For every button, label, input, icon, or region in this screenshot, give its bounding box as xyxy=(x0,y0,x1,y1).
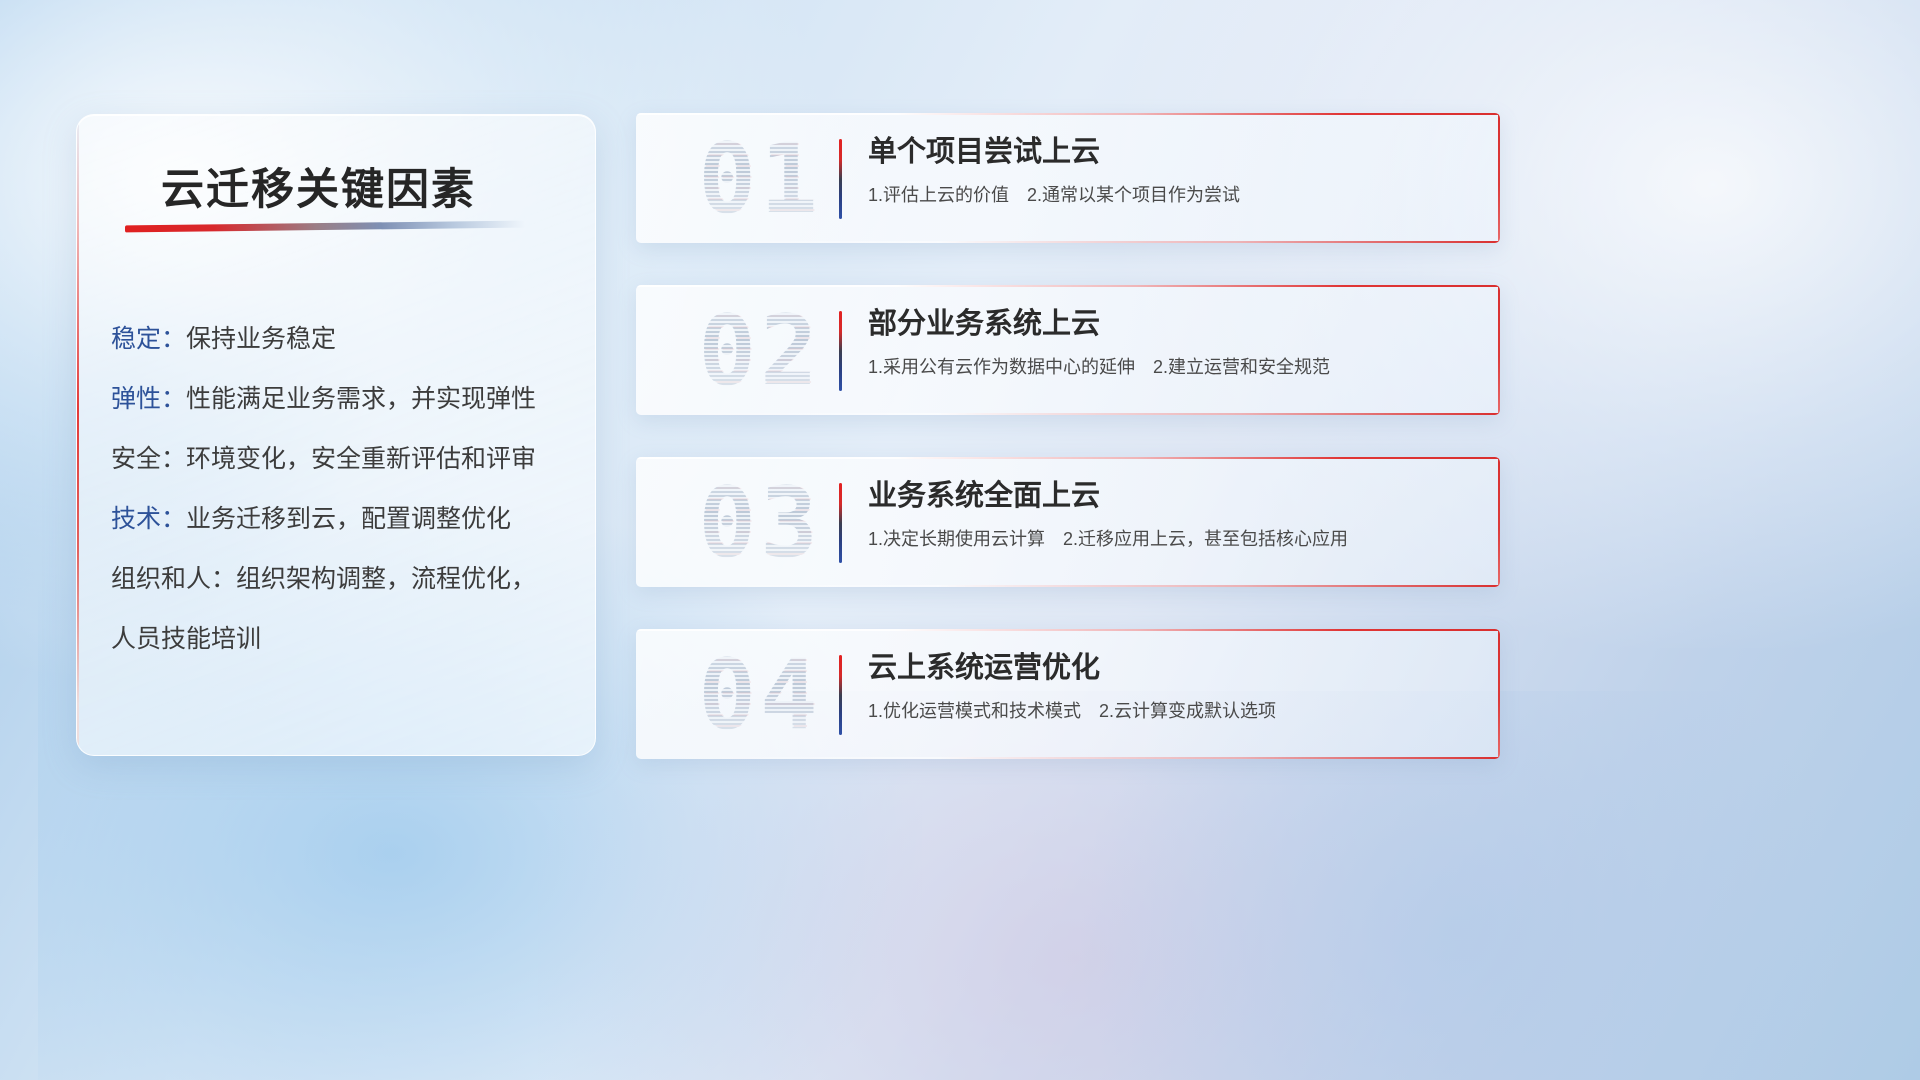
key-factors-panel: 云迁移关键因素 稳定：保持业务稳定 弹性：性能满足业务需求，并实现弹性 安全：环… xyxy=(76,114,596,756)
stage-number-glitch-overlay: 03 xyxy=(699,467,823,579)
stage-divider-bar xyxy=(839,311,842,391)
slide-stage: 云迁移关键因素 稳定：保持业务稳定 弹性：性能满足业务需求，并实现弹性 安全：环… xyxy=(0,0,1920,1080)
factor-label: 弹性： xyxy=(111,385,186,413)
stage-title: 业务系统全面上云 xyxy=(868,475,1476,517)
stage-text-block: 单个项目尝试上云 1.评估上云的价值 2.通常以某个项目作为尝试 xyxy=(868,131,1476,209)
stage-number-glyph: 04 xyxy=(698,639,822,751)
stage-number-glyph: 03 xyxy=(698,467,822,579)
stage-text-block: 业务系统全面上云 1.决定长期使用云计算 2.迁移应用上云，甚至包括核心应用 xyxy=(868,475,1476,553)
stage-subtitle: 1.评估上云的价值 2.通常以某个项目作为尝试 xyxy=(868,181,1476,209)
factor-value-continuation: 人员技能培训 xyxy=(111,609,571,669)
stage-divider-bar xyxy=(839,139,842,219)
card-bottom-accent xyxy=(636,757,1500,759)
card-bottom-accent xyxy=(636,413,1500,415)
factor-label: 组织和人： xyxy=(111,565,236,593)
list-item: 弹性：性能满足业务需求，并实现弹性 xyxy=(111,369,571,429)
page-title: 云迁移关键因素 xyxy=(161,155,476,217)
list-item: 组织和人：组织架构调整，流程优化， xyxy=(111,549,571,609)
stage-text-block: 云上系统运营优化 1.优化运营模式和技术模式 2.云计算变成默认选项 xyxy=(868,647,1476,725)
stage-divider-bar xyxy=(839,483,842,563)
stage-number: 03 03 xyxy=(660,463,860,583)
factor-value: 业务迁移到云，配置调整优化 xyxy=(186,505,511,533)
stage-title: 单个项目尝试上云 xyxy=(868,131,1476,173)
stage-number-glyph: 02 xyxy=(698,295,822,407)
factor-label: 安全： xyxy=(111,445,186,473)
title-underline-accent xyxy=(125,221,525,233)
stage-subtitle: 1.优化运营模式和技术模式 2.云计算变成默认选项 xyxy=(868,697,1476,725)
key-factors-list: 稳定：保持业务稳定 弹性：性能满足业务需求，并实现弹性 安全：环境变化，安全重新… xyxy=(111,309,571,669)
list-item: 稳定：保持业务稳定 xyxy=(111,309,571,369)
card-bottom-accent xyxy=(636,241,1500,243)
factor-value: 保持业务稳定 xyxy=(186,325,336,353)
list-item: 技术：业务迁移到云，配置调整优化 xyxy=(111,489,571,549)
stage-number-glitch-overlay: 04 xyxy=(699,639,823,751)
card-bottom-accent xyxy=(636,585,1500,587)
stage-title: 云上系统运营优化 xyxy=(868,647,1476,689)
factor-value: 环境变化，安全重新评估和评审 xyxy=(186,445,536,473)
stage-card[interactable]: 01 01 单个项目尝试上云 1.评估上云的价值 2.通常以某个项目作为尝试 xyxy=(636,113,1500,243)
stage-subtitle: 1.决定长期使用云计算 2.迁移应用上云，甚至包括核心应用 xyxy=(868,525,1476,553)
factor-value: 组织架构调整，流程优化， xyxy=(236,565,536,593)
stage-text-block: 部分业务系统上云 1.采用公有云作为数据中心的延伸 2.建立运营和安全规范 xyxy=(868,303,1476,381)
stage-number: 01 01 xyxy=(660,119,860,239)
stage-card[interactable]: 03 03 业务系统全面上云 1.决定长期使用云计算 2.迁移应用上云，甚至包括… xyxy=(636,457,1500,587)
stage-card[interactable]: 04 04 云上系统运营优化 1.优化运营模式和技术模式 2.云计算变成默认选项 xyxy=(636,629,1500,759)
migration-stage-cards: 01 01 单个项目尝试上云 1.评估上云的价值 2.通常以某个项目作为尝试 0… xyxy=(636,113,1500,801)
factor-label: 技术： xyxy=(111,505,186,533)
stage-number-glitch-overlay: 02 xyxy=(699,295,823,407)
stage-title: 部分业务系统上云 xyxy=(868,303,1476,345)
list-item: 安全：环境变化，安全重新评估和评审 xyxy=(111,429,571,489)
stage-subtitle: 1.采用公有云作为数据中心的延伸 2.建立运营和安全规范 xyxy=(868,353,1476,381)
stage-number: 04 04 xyxy=(660,635,860,755)
stage-divider-bar xyxy=(839,655,842,735)
stage-number-glyph: 01 xyxy=(698,123,822,235)
stage-card[interactable]: 02 02 部分业务系统上云 1.采用公有云作为数据中心的延伸 2.建立运营和安… xyxy=(636,285,1500,415)
stage-number: 02 02 xyxy=(660,291,860,411)
factor-value: 性能满足业务需求，并实现弹性 xyxy=(186,385,536,413)
stage-number-glitch-overlay: 01 xyxy=(699,123,823,235)
factor-label: 稳定： xyxy=(111,325,186,353)
